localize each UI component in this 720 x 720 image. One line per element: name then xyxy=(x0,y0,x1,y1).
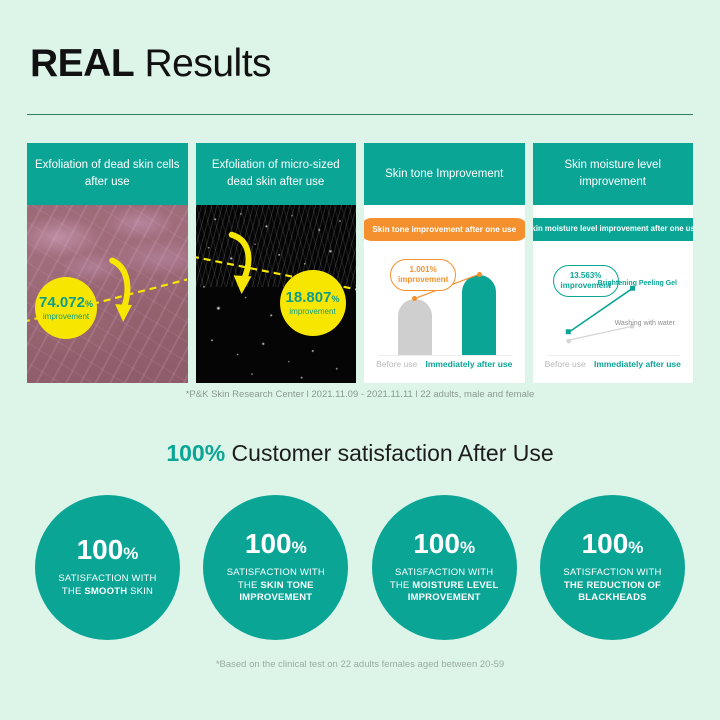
axis-label-after: Immediately after use xyxy=(425,359,512,370)
marker-water-before xyxy=(566,339,571,344)
panel-heading: Exfoliation of micro-sized dead skin aft… xyxy=(196,143,357,205)
panel-skin-moisture-improvement: Skin moisture level improvement Skin moi… xyxy=(533,143,694,383)
curved-arrow-shaft xyxy=(231,235,248,281)
bubble-caption: improvement xyxy=(43,313,89,321)
chart-pill-label: Skin moisture level improvement after on… xyxy=(533,218,694,241)
curved-arrow-head xyxy=(115,304,132,322)
axis-label-before: Before use xyxy=(545,359,586,370)
marker-gel-before xyxy=(565,329,570,334)
bubble-caption: improvement xyxy=(289,308,335,316)
circle-caption: SATISFACTION WITH THE MOISTURE LEVEL IMP… xyxy=(390,567,499,605)
clinical-note-top: *P&K Skin Research Center l 2021.11.09 -… xyxy=(0,389,720,400)
circle-value: 100% xyxy=(245,530,307,558)
panel-heading: Exfoliation of dead skin cells after use xyxy=(27,143,188,205)
real-results-page: REAL Results Exfoliation of dead skin ce… xyxy=(0,0,720,720)
chart-card: Skin tone improvement after one use 1.00… xyxy=(364,205,525,383)
data-point-after xyxy=(477,272,482,277)
line-plot-area: 13.563% improvement Brightening Peeling … xyxy=(547,263,680,356)
page-title: REAL Results xyxy=(30,42,271,86)
axis-label-after: Immediately after use xyxy=(594,359,681,370)
panel-exfoliation-micro-sized: Exfoliation of micro-sized dead skin aft… xyxy=(196,143,357,383)
satisfaction-circle-moisture-level: 100% SATISFACTION WITH THE MOISTURE LEVE… xyxy=(372,495,517,640)
panel-body: Skin tone improvement after one use 1.00… xyxy=(364,205,525,383)
panel-heading: Skin tone Improvement xyxy=(364,143,525,205)
callout-caption: improvement xyxy=(398,275,448,285)
improvement-bubble: 74.072% improvement xyxy=(35,277,97,339)
legend-brightening-peeling-gel: Brightening Peeling Gel xyxy=(598,279,677,288)
legend-washing-with-water: Washing with water xyxy=(615,319,675,328)
bar-plot-area: 1.001% improvement xyxy=(378,263,511,356)
panel-body: Skin moisture level improvement after on… xyxy=(533,205,694,383)
satisfaction-heading-rest: Customer satisfaction After Use xyxy=(225,440,554,466)
clinical-note-bottom: *Based on the clinical test on 22 adults… xyxy=(0,659,720,670)
improvement-callout: 1.001% improvement xyxy=(390,259,456,291)
circle-caption: SATISFACTION WITH THE SKIN TONE IMPROVEM… xyxy=(227,567,325,605)
satisfaction-circle-smooth-skin: 100% SATISFACTION WITH THE SMOOTH SKIN xyxy=(35,495,180,640)
chart-pill-label: Skin tone improvement after one use xyxy=(364,218,525,241)
data-point-before xyxy=(412,296,417,301)
bubble-value: 18.807% xyxy=(286,290,340,306)
satisfaction-circle-skin-tone: 100% SATISFACTION WITH THE SKIN TONE IMP… xyxy=(203,495,348,640)
axis-label-before: Before use xyxy=(376,359,417,370)
page-title-light: Results xyxy=(134,42,271,85)
curved-arrow-head xyxy=(233,275,251,294)
chart-card: Skin moisture level improvement after on… xyxy=(533,205,694,383)
circle-caption: SATISFACTION WITH THE REDUCTION OF BLACK… xyxy=(563,567,661,605)
circle-caption: SATISFACTION WITH THE SMOOTH SKIN xyxy=(58,573,156,599)
line-axis-labels: Before use Immediately after use xyxy=(541,359,686,370)
circle-value: 100% xyxy=(413,530,475,558)
panel-skin-tone-improvement: Skin tone Improvement Skin tone improvem… xyxy=(364,143,525,383)
improvement-bubble: 18.807% improvement xyxy=(280,270,346,336)
page-title-strong: REAL xyxy=(30,42,134,85)
header-divider xyxy=(27,114,693,115)
panel-heading: Skin moisture level improvement xyxy=(533,143,694,205)
panel-body: 18.807% improvement xyxy=(196,205,357,383)
panel-body: 74.072% improvement xyxy=(27,205,188,383)
circle-value: 100% xyxy=(582,530,644,558)
curved-arrow-shaft xyxy=(112,260,127,310)
bubble-value: 74.072% xyxy=(39,295,93,311)
panel-exfoliation-dead-skin: Exfoliation of dead skin cells after use… xyxy=(27,143,188,383)
satisfaction-heading-pct: 100% xyxy=(166,440,225,466)
circle-value: 100% xyxy=(77,536,139,564)
callout-value: 1.001% xyxy=(398,265,448,275)
satisfaction-circle-blackheads: 100% SATISFACTION WITH THE REDUCTION OF … xyxy=(540,495,685,640)
satisfaction-circles: 100% SATISFACTION WITH THE SMOOTH SKIN 1… xyxy=(35,495,685,640)
satisfaction-heading: 100% Customer satisfaction After Use xyxy=(0,440,720,467)
bar-axis-labels: Before use Immediately after use xyxy=(372,359,517,370)
results-panels: Exfoliation of dead skin cells after use… xyxy=(27,143,693,383)
